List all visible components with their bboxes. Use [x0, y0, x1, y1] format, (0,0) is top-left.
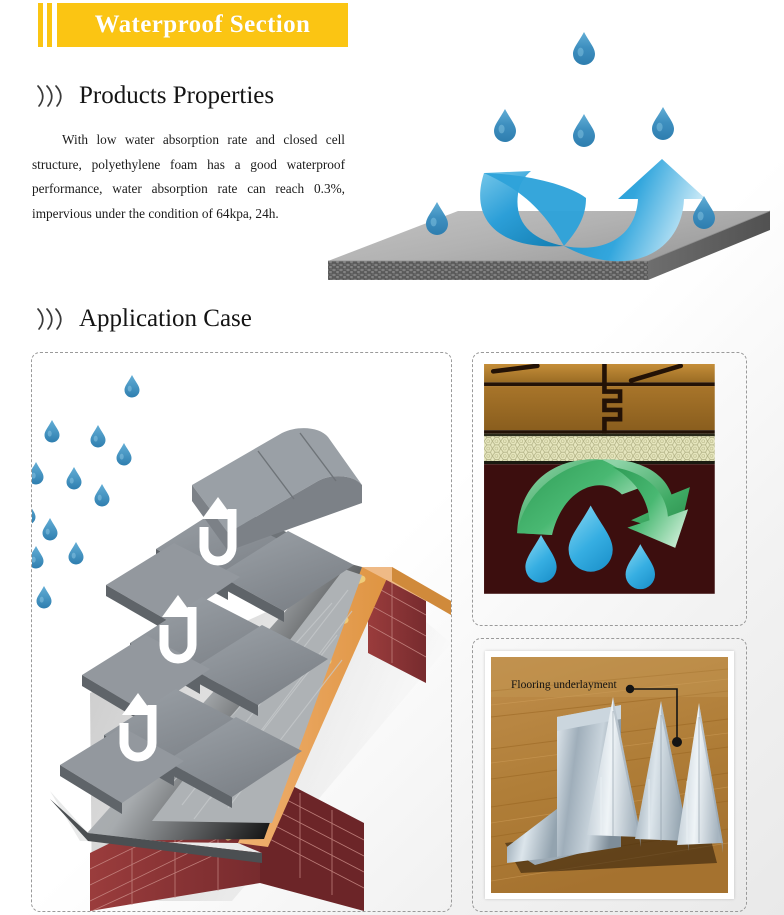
- flooring-underlayment-photo: Flooring underlayment: [473, 639, 746, 911]
- triple-chevron-icon: [36, 306, 70, 332]
- poster-page: Waterproof Section Products Properties W…: [0, 0, 784, 915]
- photo-frame: Flooring underlayment: [485, 651, 734, 899]
- photo-image: Flooring underlayment: [491, 657, 728, 893]
- banner-block: Waterproof Section: [57, 3, 348, 47]
- banner-accent-bar-2: [47, 3, 52, 47]
- banner-accent-bar-1: [38, 3, 43, 47]
- roof-application-panel: [31, 352, 452, 912]
- section-heading-products-properties: Products Properties: [36, 82, 274, 110]
- section-title: Application Case: [79, 305, 252, 333]
- floor-cross-section-panel: [472, 352, 747, 626]
- waterproof-foam-board-illustration: [318, 18, 780, 290]
- floor-cross-section-illustration: [473, 353, 746, 625]
- products-properties-body-text: With low water absorption rate and close…: [32, 128, 345, 226]
- callout-label: Flooring underlayment: [511, 679, 617, 691]
- roof-application-illustration: [32, 353, 451, 911]
- triple-chevron-icon: [36, 83, 70, 109]
- section-title: Products Properties: [79, 82, 274, 110]
- rain-droplets: [32, 375, 140, 609]
- section-heading-application-case: Application Case: [36, 305, 252, 333]
- page-title: Waterproof Section: [95, 11, 311, 39]
- header-banner: Waterproof Section: [38, 3, 348, 47]
- product-photo-panel: Flooring underlayment: [472, 638, 747, 912]
